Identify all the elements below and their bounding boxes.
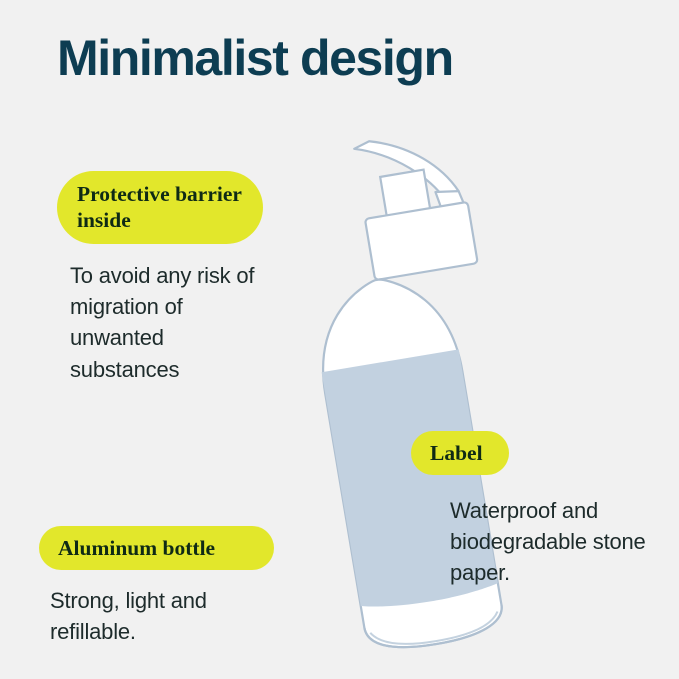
page-title: Minimalist design — [57, 32, 453, 85]
description-label: Waterproof and biodegradable stone paper… — [450, 495, 650, 589]
infographic-canvas: Minimalist design Protective barrier ins… — [0, 0, 679, 679]
pump-collar — [365, 202, 478, 280]
badge-aluminum-bottle: Aluminum bottle — [39, 526, 274, 570]
description-protective-barrier: To avoid any risk of migration of unwant… — [70, 260, 275, 385]
description-aluminum-bottle: Strong, light and refillable. — [50, 585, 250, 647]
badge-label: Label — [411, 431, 509, 475]
badge-protective-barrier: Protective barrier inside — [57, 171, 263, 244]
